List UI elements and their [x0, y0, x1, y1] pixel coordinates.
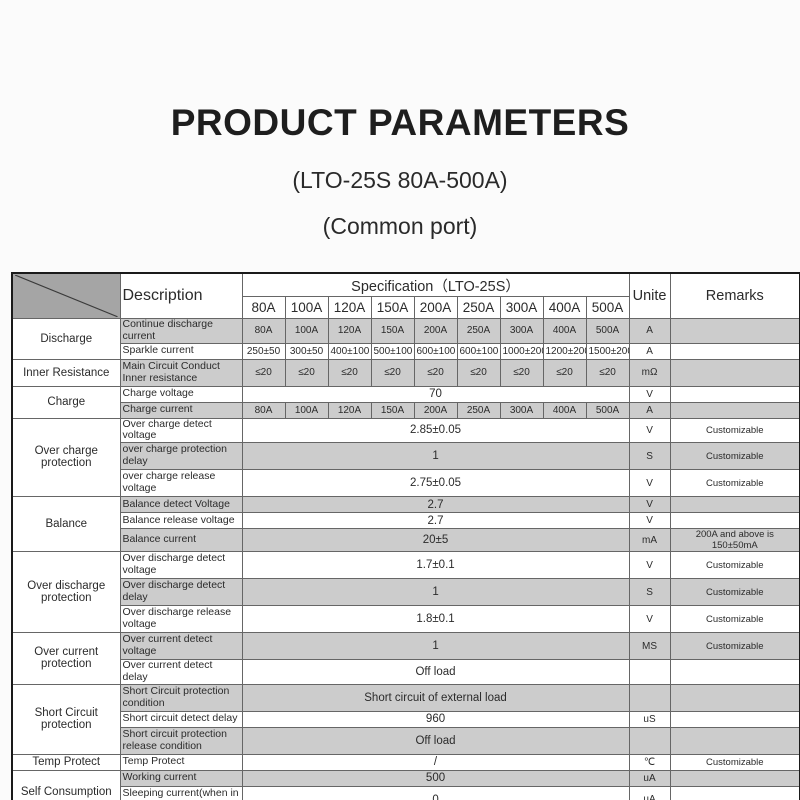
row-description: Over current detect delay	[120, 660, 242, 685]
row-value: 1.7±0.1	[242, 552, 629, 579]
specification-header: Specification（LTO-25S）	[242, 273, 629, 297]
table-row: Short circuit protection release conditi…	[12, 727, 800, 754]
row-remark	[670, 497, 800, 513]
category-label: Inner Resistance	[12, 359, 120, 386]
row-remark: Customizable	[670, 579, 800, 606]
row-unit: uA	[629, 786, 670, 800]
row-value-120a: ≤20	[328, 359, 371, 386]
table-row: Charge current80A100A120A150A200A250A300…	[12, 402, 800, 418]
row-unit: S	[629, 579, 670, 606]
row-remark	[670, 684, 800, 711]
category-label: Over charge protection	[12, 418, 120, 497]
product-parameters-page: PRODUCT PARAMETERS (LTO-25S 80A-500A) (C…	[0, 0, 800, 800]
spec-column-header-250a: 250A	[457, 297, 500, 319]
row-description: Over discharge detect voltage	[120, 552, 242, 579]
category-label: Over discharge protection	[12, 552, 120, 633]
table-row: Short circuit detect delay960uS	[12, 711, 800, 727]
row-value-150a: ≤20	[371, 359, 414, 386]
row-remark: Customizable	[670, 470, 800, 497]
row-value-500a: ≤20	[586, 359, 629, 386]
row-value-200a: ≤20	[414, 359, 457, 386]
table-row: Balance current20±5mA200A and above is 1…	[12, 529, 800, 552]
row-remark: Customizable	[670, 552, 800, 579]
row-value-300a: 300A	[500, 402, 543, 418]
row-description: Balance detect Voltage	[120, 497, 242, 513]
row-value-80a: 250±50	[242, 343, 285, 359]
row-description: over charge release voltage	[120, 470, 242, 497]
spec-column-header-400a: 400A	[543, 297, 586, 319]
table-row: Over charge protectionOver charge detect…	[12, 418, 800, 443]
row-unit	[629, 684, 670, 711]
spec-column-header-150a: 150A	[371, 297, 414, 319]
row-value: 2.85±0.05	[242, 418, 629, 443]
row-value-80a: ≤20	[242, 359, 285, 386]
row-unit: uA	[629, 770, 670, 786]
row-value-400a: 1200±200	[543, 343, 586, 359]
table-row: Over discharge protectionOver discharge …	[12, 552, 800, 579]
row-remark	[670, 711, 800, 727]
diagonal-line-icon	[15, 275, 118, 317]
category-label: Discharge	[12, 319, 120, 360]
page-subtitle-model: (LTO-25S 80A-500A)	[0, 167, 800, 194]
remarks-header: Remarks	[670, 273, 800, 319]
row-description: Balance release voltage	[120, 513, 242, 529]
row-value-500a: 500A	[586, 402, 629, 418]
row-description: Temp Protect	[120, 754, 242, 770]
category-label: Balance	[12, 497, 120, 552]
table-row: Sparkle current250±50300±50400±100500±10…	[12, 343, 800, 359]
spec-column-header-120a: 120A	[328, 297, 371, 319]
row-description: Sleeping current(when in discharge)	[120, 786, 242, 800]
category-label: Short Circuit protection	[12, 684, 120, 754]
row-unit: A	[629, 343, 670, 359]
row-value-100a: 300±50	[285, 343, 328, 359]
row-remark: Customizable	[670, 418, 800, 443]
description-header: Description	[120, 273, 242, 319]
row-remark: 200A and above is 150±50mA	[670, 529, 800, 552]
category-label: Self Consumption	[12, 770, 120, 800]
table-row: BalanceBalance detect Voltage2.7V	[12, 497, 800, 513]
row-value: 70	[242, 386, 629, 402]
title-block: PRODUCT PARAMETERS (LTO-25S 80A-500A) (C…	[0, 0, 800, 240]
spec-table: DescriptionSpecification（LTO-25S）UniteRe…	[11, 272, 800, 800]
row-description: over charge protection delay	[120, 443, 242, 470]
table-row: Temp ProtectTemp Protect/℃Customizable	[12, 754, 800, 770]
row-description: Working current	[120, 770, 242, 786]
row-unit	[629, 727, 670, 754]
row-unit: V	[629, 497, 670, 513]
category-label: Over current protection	[12, 633, 120, 685]
row-unit: A	[629, 319, 670, 344]
row-value-250a: 250A	[457, 402, 500, 418]
spec-column-header-80a: 80A	[242, 297, 285, 319]
row-description: Continue discharge current	[120, 319, 242, 344]
page-subtitle-port: (Common port)	[0, 213, 800, 240]
row-description: Short Circuit protection condition	[120, 684, 242, 711]
row-description: Charge current	[120, 402, 242, 418]
table-row: Short Circuit protectionShort Circuit pr…	[12, 684, 800, 711]
row-value: 500	[242, 770, 629, 786]
row-unit: mΩ	[629, 359, 670, 386]
row-value: 1.8±0.1	[242, 606, 629, 633]
row-value-300a: 300A	[500, 319, 543, 344]
table-row: Over discharge detect delay1SCustomizabl…	[12, 579, 800, 606]
row-description: Balance current	[120, 529, 242, 552]
row-value-150a: 500±100	[371, 343, 414, 359]
row-value: Short circuit of external load	[242, 684, 629, 711]
row-value: 1	[242, 579, 629, 606]
row-value-100a: 100A	[285, 319, 328, 344]
row-description: Short circuit detect delay	[120, 711, 242, 727]
row-remark	[670, 786, 800, 800]
row-unit: V	[629, 552, 670, 579]
row-value: 0	[242, 786, 629, 800]
row-value-200a: 200A	[414, 319, 457, 344]
row-value-500a: 1500±200	[586, 343, 629, 359]
row-value-100a: ≤20	[285, 359, 328, 386]
row-value-150a: 150A	[371, 402, 414, 418]
row-value-200a: 200A	[414, 402, 457, 418]
row-remark	[670, 660, 800, 685]
table-row: over charge release voltage2.75±0.05VCus…	[12, 470, 800, 497]
row-unit: V	[629, 470, 670, 497]
row-remark	[670, 319, 800, 344]
unite-header: Unite	[629, 273, 670, 319]
category-label: Charge	[12, 386, 120, 418]
row-remark	[670, 386, 800, 402]
row-value-120a: 400±100	[328, 343, 371, 359]
table-row: Over discharge release voltage1.8±0.1VCu…	[12, 606, 800, 633]
row-value: 2.75±0.05	[242, 470, 629, 497]
row-description: Main Circuit Conduct Inner resistance	[120, 359, 242, 386]
spec-column-header-500a: 500A	[586, 297, 629, 319]
row-value: 1	[242, 443, 629, 470]
row-remark	[670, 402, 800, 418]
row-remark: Customizable	[670, 633, 800, 660]
row-value-250a: 250A	[457, 319, 500, 344]
row-value: /	[242, 754, 629, 770]
row-unit: V	[629, 418, 670, 443]
table-header-row-top: DescriptionSpecification（LTO-25S）UniteRe…	[12, 273, 800, 297]
category-label: Temp Protect	[12, 754, 120, 770]
row-unit: S	[629, 443, 670, 470]
row-unit: uS	[629, 711, 670, 727]
row-unit: V	[629, 606, 670, 633]
row-unit: ℃	[629, 754, 670, 770]
row-value-120a: 120A	[328, 402, 371, 418]
row-value-150a: 150A	[371, 319, 414, 344]
row-unit: V	[629, 513, 670, 529]
row-value-250a: ≤20	[457, 359, 500, 386]
row-unit: A	[629, 402, 670, 418]
row-value-500a: 500A	[586, 319, 629, 344]
row-unit: mA	[629, 529, 670, 552]
row-description: Over charge detect voltage	[120, 418, 242, 443]
row-remark	[670, 770, 800, 786]
row-description: Short circuit protection release conditi…	[120, 727, 242, 754]
row-unit: MS	[629, 633, 670, 660]
row-value: 20±5	[242, 529, 629, 552]
row-value: 960	[242, 711, 629, 727]
row-value-400a: ≤20	[543, 359, 586, 386]
table-row: Over current protectionOver current dete…	[12, 633, 800, 660]
spec-column-header-200a: 200A	[414, 297, 457, 319]
table-row: over charge protection delay1SCustomizab…	[12, 443, 800, 470]
row-value: 1	[242, 633, 629, 660]
row-remark	[670, 359, 800, 386]
row-remark	[670, 727, 800, 754]
spec-table-container: DescriptionSpecification（LTO-25S）UniteRe…	[11, 272, 790, 800]
row-description: Sparkle current	[120, 343, 242, 359]
row-remark: Customizable	[670, 754, 800, 770]
table-row: Inner ResistanceMain Circuit Conduct Inn…	[12, 359, 800, 386]
row-description: Over discharge release voltage	[120, 606, 242, 633]
row-value-300a: ≤20	[500, 359, 543, 386]
row-value: 2.7	[242, 513, 629, 529]
table-row: DischargeContinue discharge current80A10…	[12, 319, 800, 344]
row-value-80a: 80A	[242, 402, 285, 418]
row-value: Off load	[242, 660, 629, 685]
spec-column-header-300a: 300A	[500, 297, 543, 319]
table-row: Over current detect delayOff load	[12, 660, 800, 685]
row-description: Over discharge detect delay	[120, 579, 242, 606]
row-remark	[670, 513, 800, 529]
table-row: Balance release voltage2.7V	[12, 513, 800, 529]
row-value-400a: 400A	[543, 319, 586, 344]
row-value-80a: 80A	[242, 319, 285, 344]
table-row: Sleeping current(when in discharge)0uA	[12, 786, 800, 800]
corner-diagonal-cell	[12, 273, 120, 319]
row-description: Charge voltage	[120, 386, 242, 402]
row-value-400a: 400A	[543, 402, 586, 418]
row-unit	[629, 660, 670, 685]
row-value-300a: 1000±200	[500, 343, 543, 359]
table-row: ChargeCharge voltage70V	[12, 386, 800, 402]
row-value: 2.7	[242, 497, 629, 513]
row-value-250a: 600±100	[457, 343, 500, 359]
row-value-100a: 100A	[285, 402, 328, 418]
row-unit: V	[629, 386, 670, 402]
row-remark	[670, 343, 800, 359]
row-value: Off load	[242, 727, 629, 754]
table-row: Self ConsumptionWorking current500uA	[12, 770, 800, 786]
row-description: Over current detect voltage	[120, 633, 242, 660]
row-remark: Customizable	[670, 443, 800, 470]
row-remark: Customizable	[670, 606, 800, 633]
row-value-120a: 120A	[328, 319, 371, 344]
row-value-200a: 600±100	[414, 343, 457, 359]
page-title: PRODUCT PARAMETERS	[0, 104, 800, 141]
spec-column-header-100a: 100A	[285, 297, 328, 319]
